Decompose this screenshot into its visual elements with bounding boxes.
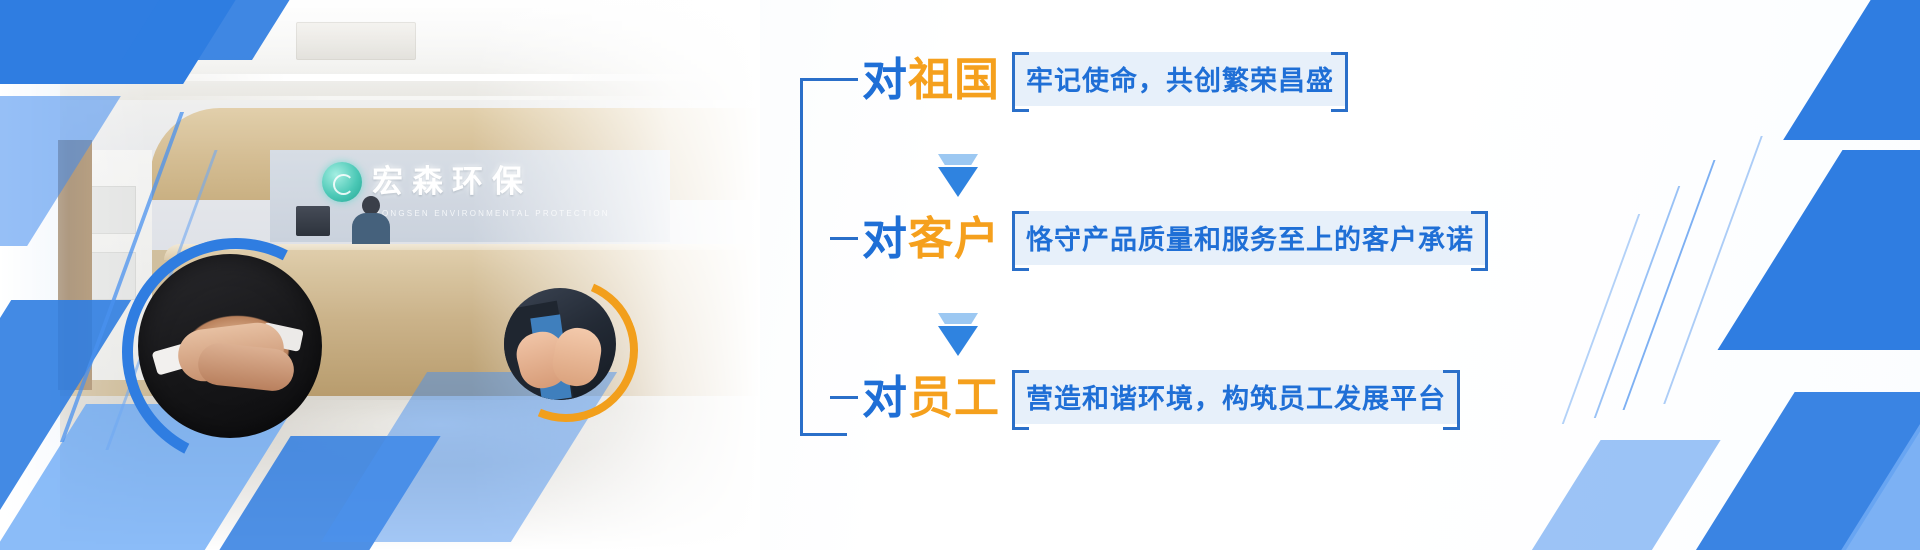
down-arrow-1-body [938,167,978,197]
values-list: 对祖国 牢记使命，共创繁荣昌盛 对客户 恪守产品质量和服务至上的客户承诺 对员工 [800,78,1700,478]
value-lead-subject-2: 客户 [908,213,1000,264]
value-lead-3: 对员工 [862,375,1000,420]
value-row-country: 对祖国 牢记使命，共创繁荣昌盛 [830,50,1348,108]
row-stem-2 [830,237,858,240]
row-stem-1 [830,78,858,81]
value-lead-1: 对祖国 [862,57,1000,102]
value-row-customer: 对客户 恪守产品质量和服务至上的客户承诺 [830,209,1488,267]
value-lead-prefix-1: 对 [862,54,908,105]
handshake-photo [138,254,322,438]
down-arrow-1-top [938,154,978,165]
value-statement-1: 牢记使命，共创繁荣昌盛 [1012,52,1348,106]
value-lead-subject-3: 员工 [908,372,1000,423]
value-row-employee: 对员工 营造和谐环境，构筑员工发展平台 [830,368,1460,426]
down-arrow-2-top [938,313,978,324]
value-lead-2: 对客户 [862,216,1000,261]
down-arrow-1 [938,154,978,197]
down-arrow-2-body [938,326,978,356]
value-lead-prefix-3: 对 [862,372,908,423]
value-lead-prefix-2: 对 [862,213,908,264]
down-arrow-2 [938,313,978,356]
company-values-banner: 宏森环保 HONGSEN ENVIRONMENTAL PROTECTION [0,0,1920,550]
value-statement-2: 恪守产品质量和服务至上的客户承诺 [1012,211,1488,265]
value-lead-subject-1: 祖国 [908,54,1000,105]
row-stem-3 [830,396,858,399]
value-statement-3: 营造和谐环境，构筑员工发展平台 [1012,370,1460,424]
deco-shape-right-mid [1718,150,1920,350]
applause-photo [504,288,616,400]
deco-shape-top-right-1 [1783,0,1920,140]
